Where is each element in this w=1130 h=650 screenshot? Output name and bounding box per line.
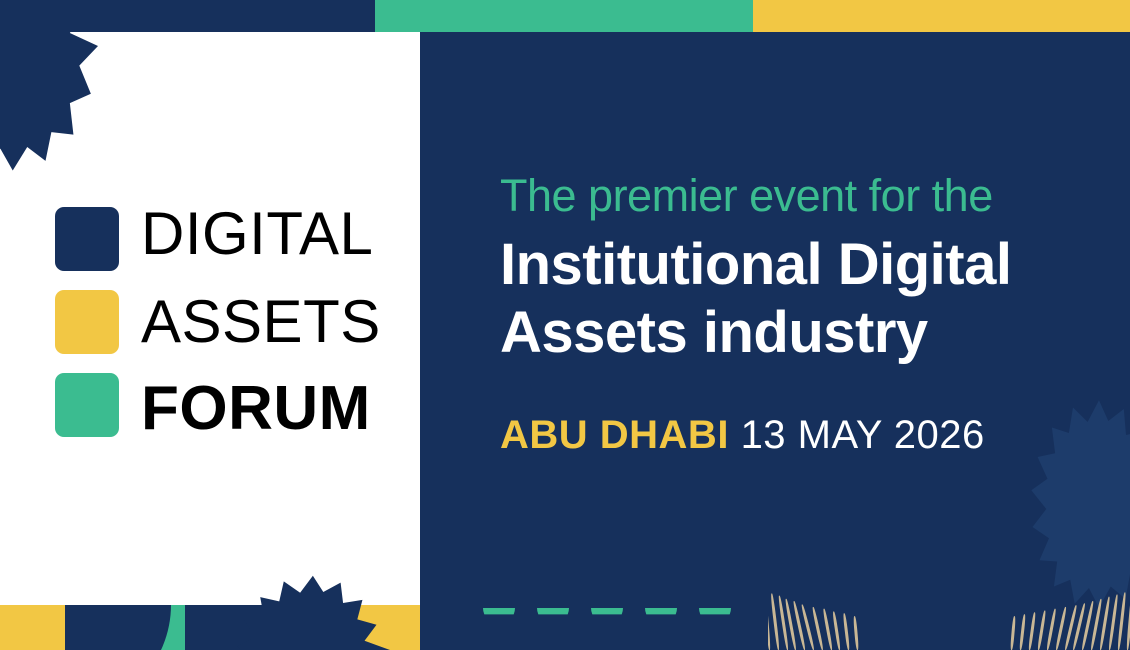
fan-line xyxy=(1028,612,1036,650)
arc-dot-icon xyxy=(483,592,515,624)
event-dateline: ABU DHABI 13 MAY 2026 xyxy=(500,413,1100,457)
fan-line xyxy=(1046,608,1057,650)
fan-line xyxy=(1019,614,1026,650)
arc-dot-icon xyxy=(699,592,731,624)
fan-line xyxy=(1117,592,1126,650)
headline-text: Institutional Digital Assets industry xyxy=(500,231,1100,367)
eyebrow-text: The premier event for the xyxy=(500,172,1100,219)
top-strip-green-segment xyxy=(375,0,753,32)
bottom-band-green-segment xyxy=(65,605,185,650)
top-strip-gold-segment xyxy=(753,0,1130,32)
top-color-strip xyxy=(0,0,1130,32)
arc-dot-icon xyxy=(591,592,623,624)
fan-line xyxy=(822,609,832,650)
fan-line xyxy=(833,611,842,650)
fan-line xyxy=(1010,616,1016,650)
logo-gold-square-icon xyxy=(55,290,119,354)
event-date-value: 13 MAY 2026 xyxy=(741,413,985,457)
logo-wordmark: DIGITAL ASSETS FORUM xyxy=(141,207,381,437)
dot-row-decoration xyxy=(483,592,731,624)
fan-line xyxy=(843,613,850,650)
fan-line xyxy=(853,616,859,650)
event-city: ABU DHABI xyxy=(500,413,729,457)
event-banner: DIGITAL ASSETS FORUM The premier event f… xyxy=(0,0,1130,650)
brand-logo: DIGITAL ASSETS FORUM xyxy=(55,207,365,437)
logo-swatch-stack xyxy=(55,207,119,437)
bottom-band-gold-segment xyxy=(0,605,65,650)
logo-word-assets: ASSETS xyxy=(141,297,381,346)
logo-navy-square-icon xyxy=(55,207,119,271)
logo-green-square-icon xyxy=(55,373,119,437)
headline-block: The premier event for the Institutional … xyxy=(500,172,1100,457)
fan-lines-left-decoration xyxy=(768,588,860,650)
event-date xyxy=(729,413,741,457)
top-strip-navy-segment xyxy=(0,0,375,32)
arc-dot-icon xyxy=(537,592,569,624)
logo-word-forum: FORUM xyxy=(141,384,381,435)
fan-line xyxy=(1037,610,1046,650)
logo-word-digital: DIGITAL xyxy=(141,209,381,258)
arc-dot-icon xyxy=(645,592,677,624)
fan-lines-right-decoration xyxy=(1010,588,1130,650)
fan-line xyxy=(1126,590,1130,650)
quarter-circle-shape xyxy=(65,605,171,650)
